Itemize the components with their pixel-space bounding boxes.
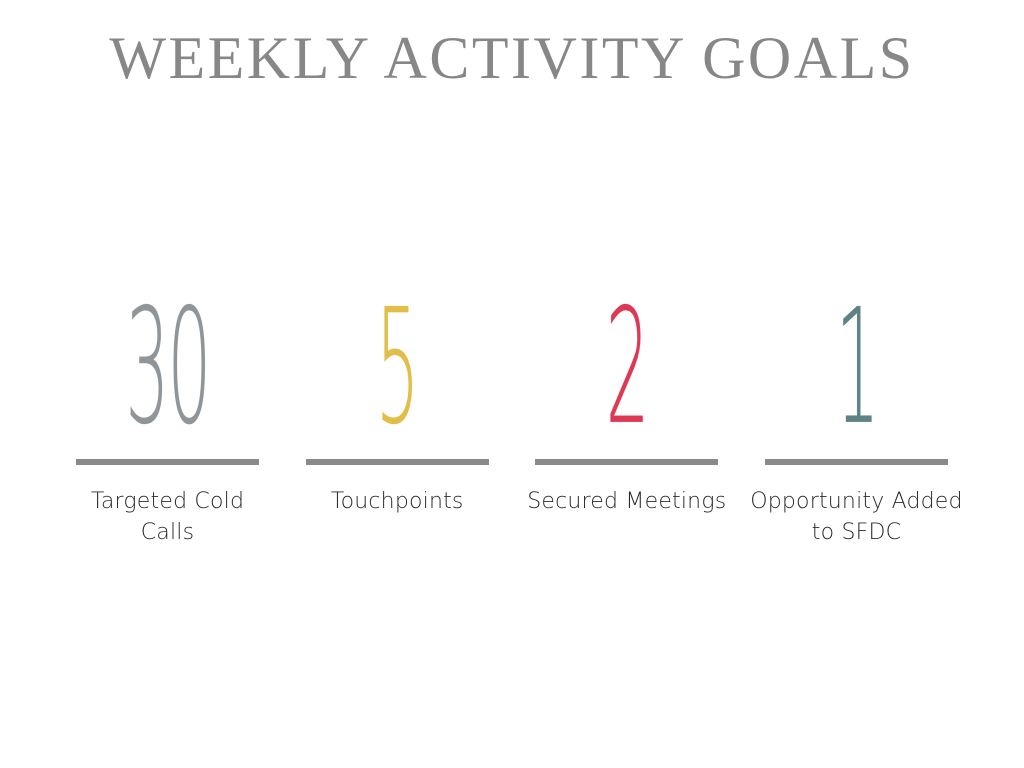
metric-value: 30	[125, 300, 209, 448]
page-title: WEEKLY ACTIVITY GOALS	[0, 22, 1024, 94]
metric-value: 2	[606, 300, 648, 448]
metrics-row: 30 Targeted Cold Calls 5 Touchpoints 2 S…	[61, 300, 963, 548]
metric-label: Secured Meetings	[520, 486, 733, 517]
metric-card-touchpoints: 5 Touchpoints	[291, 300, 504, 517]
metric-value: 5	[376, 300, 418, 448]
metric-card-secured-meetings: 2 Secured Meetings	[520, 300, 733, 517]
metric-label: Opportunity Added to SFDC	[750, 486, 963, 548]
metric-card-targeted-cold-calls: 30 Targeted Cold Calls	[61, 300, 274, 548]
metric-card-opportunity-added-to-sfdc: 1 Opportunity Added to SFDC	[750, 300, 963, 548]
slide-canvas: WEEKLY ACTIVITY GOALS 30 Targeted Cold C…	[0, 0, 1024, 768]
metric-label: Touchpoints	[291, 486, 504, 517]
metric-label: Targeted Cold Calls	[61, 486, 274, 548]
metric-value: 1	[835, 300, 877, 448]
